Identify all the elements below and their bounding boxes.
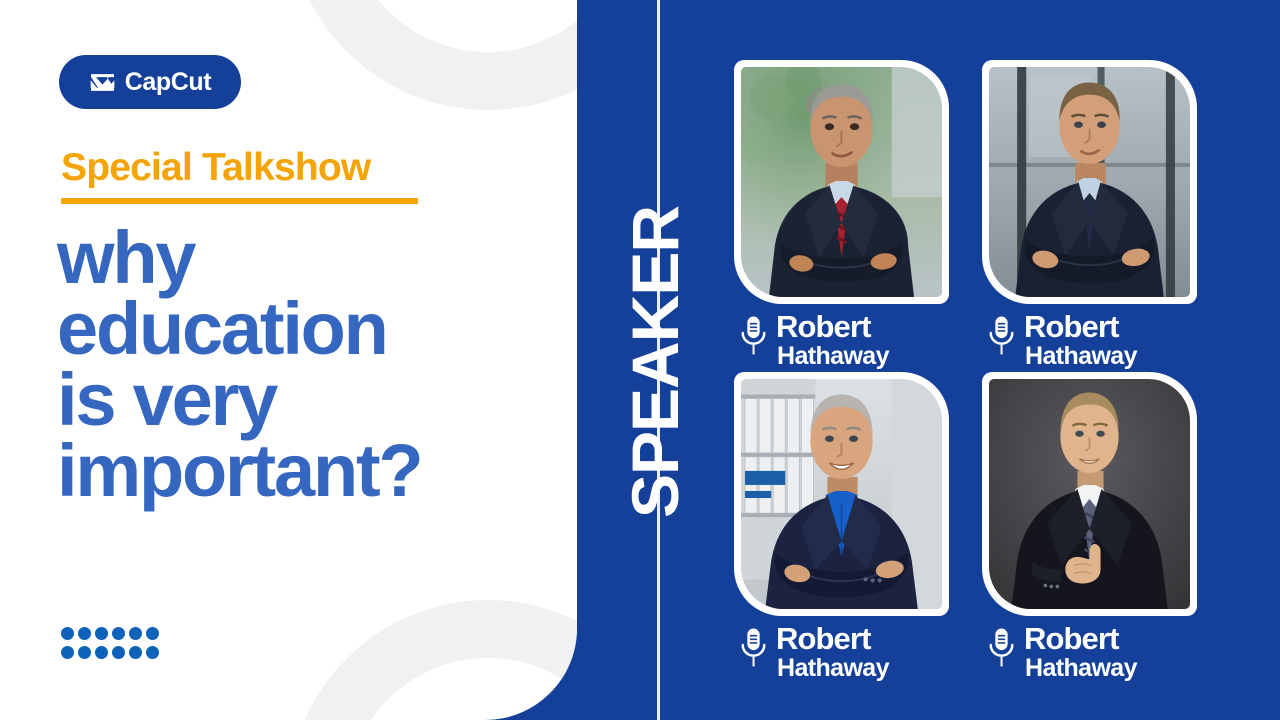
speaker-name-row: Robert Hathaway xyxy=(740,311,889,370)
dot xyxy=(61,627,74,640)
eyebrow-underline xyxy=(61,198,418,204)
dot xyxy=(95,646,108,659)
dot xyxy=(78,627,91,640)
capcut-logo-badge[interactable]: CapCut xyxy=(59,55,241,109)
speaker-portrait-illustration xyxy=(989,67,1190,297)
speaker-portrait-illustration xyxy=(989,379,1190,609)
dot xyxy=(112,646,125,659)
speaker-name: Robert Hathaway xyxy=(776,623,889,682)
speaker-section-label-text: SPEAKER xyxy=(622,206,688,518)
speaker-name: Robert Hathaway xyxy=(1024,311,1137,370)
speaker-portrait-illustration xyxy=(741,379,942,609)
headline-line-2: education xyxy=(57,293,527,364)
microphone-icon xyxy=(740,627,767,668)
decorative-ring-top xyxy=(288,0,577,110)
dot xyxy=(112,627,125,640)
speaker-name-row: Robert Hathaway xyxy=(988,623,1137,682)
speaker-photo-frame xyxy=(734,372,949,616)
speaker-photo-frame xyxy=(982,60,1197,304)
speaker-last-name: Hathaway xyxy=(1025,343,1137,370)
speaker-photo xyxy=(741,67,942,297)
dot xyxy=(95,627,108,640)
speaker-first-name: Robert xyxy=(776,311,889,343)
slide-canvas: CapCut Special Talkshow why education is… xyxy=(0,0,1280,720)
headline-line-1: why xyxy=(57,222,527,293)
eyebrow-group: Special Talkshow xyxy=(61,146,418,204)
speaker-card[interactable]: Robert Hathaway xyxy=(734,60,966,372)
speaker-photo xyxy=(741,379,942,609)
speaker-photo xyxy=(989,67,1190,297)
speaker-name-row: Robert Hathaway xyxy=(988,311,1137,370)
speaker-photo-frame xyxy=(982,372,1197,616)
headline-line-3: is very xyxy=(57,364,527,435)
capcut-hourglass-icon xyxy=(89,72,116,93)
dot xyxy=(129,646,142,659)
dot xyxy=(129,627,142,640)
microphone-icon xyxy=(988,315,1015,356)
dot-grid-decoration xyxy=(61,627,162,662)
dot xyxy=(61,646,74,659)
dot xyxy=(146,627,159,640)
speaker-section-label: SPEAKER xyxy=(612,228,698,496)
speaker-card[interactable]: Robert Hathaway xyxy=(982,60,1214,372)
eyebrow-label: Special Talkshow xyxy=(61,146,418,190)
speaker-name-row: Robert Hathaway xyxy=(740,623,889,682)
speaker-first-name: Robert xyxy=(1024,623,1137,655)
dot xyxy=(78,646,91,659)
speaker-photo xyxy=(989,379,1190,609)
page-title: why education is very important? xyxy=(57,222,527,506)
speaker-grid: Robert Hathaway xyxy=(734,60,1214,685)
left-content-panel: CapCut Special Talkshow why education is… xyxy=(0,0,577,720)
speaker-photo-frame xyxy=(734,60,949,304)
speaker-last-name: Hathaway xyxy=(1025,655,1137,682)
speaker-first-name: Robert xyxy=(776,623,889,655)
dot xyxy=(146,646,159,659)
capcut-logo-text: CapCut xyxy=(125,70,211,95)
decorative-ring-bottom xyxy=(288,600,577,720)
headline-line-4: important? xyxy=(57,435,527,506)
speaker-last-name: Hathaway xyxy=(777,343,889,370)
microphone-icon xyxy=(740,315,767,356)
speaker-card[interactable]: Robert Hathaway xyxy=(982,372,1214,684)
speaker-first-name: Robert xyxy=(1024,311,1137,343)
speaker-name: Robert Hathaway xyxy=(776,311,889,370)
speaker-last-name: Hathaway xyxy=(777,655,889,682)
microphone-icon xyxy=(988,627,1015,668)
speaker-portrait-illustration xyxy=(741,67,942,297)
speaker-name: Robert Hathaway xyxy=(1024,623,1137,682)
speaker-card[interactable]: Robert Hathaway xyxy=(734,372,966,684)
